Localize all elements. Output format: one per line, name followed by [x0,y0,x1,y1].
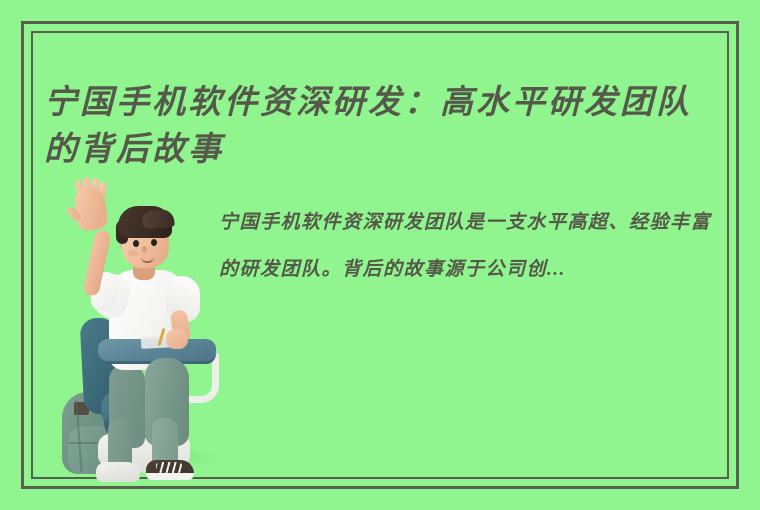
poster-canvas: 宁国手机软件资深研发：高水平研发团队的背后故事 宁国手机软件资深研发团队是一支水… [0,0,760,510]
eye-right [151,239,157,246]
shoe-laces [156,462,182,473]
cheek-blush [128,250,138,256]
eye-left [133,240,139,247]
article-summary: 宁国手机软件资深研发团队是一支水平高超、经验丰富的研发团队。背后的故事源于公司创… [219,199,711,293]
nose [142,246,147,253]
shoe-front-sole [146,473,194,480]
hair-fringe [141,208,175,229]
shoe-back [96,462,140,482]
student-raising-hand-illustration [46,178,226,474]
page-title: 宁国手机软件资深研发：高水平研发团队的背后故事 [44,80,704,174]
hand-right [166,329,188,349]
